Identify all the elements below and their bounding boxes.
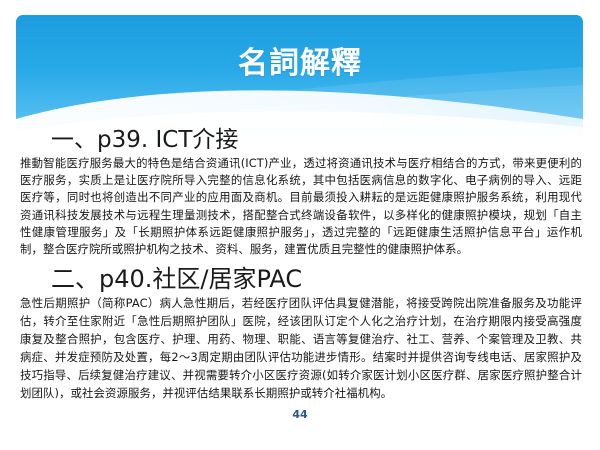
page-title: 名詞解釋 [0,47,600,80]
section-body-ict: 推動智能医疗服务最大的特色是结合资通讯(ICT)产业，透过将资通讯技术与医疗相结… [20,155,582,259]
section-pac: 二、p40.社区/居家PAC 急性后期照护（简称PAC）病人急性期后，若经医疗团… [20,266,582,402]
slide-content: 一、p39. ICT介接 推動智能医疗服务最大的特色是结合资通讯(ICT)产业，… [20,128,582,402]
section-ict: 一、p39. ICT介接 推動智能医疗服务最大的特色是结合资通讯(ICT)产业，… [20,128,582,259]
slide: 名詞解釋 一、p39. ICT介接 推動智能医疗服务最大的特色是结合资通讯(IC… [0,0,600,450]
page-number: 44 [0,408,600,421]
section-heading-ict: 一、p39. ICT介接 [20,128,582,154]
section-body-pac: 急性后期照护（简称PAC）病人急性期后，若经医疗团队评估具复健潜能，将接受跨院出… [20,294,582,402]
section-heading-pac: 二、p40.社区/居家PAC [20,266,582,293]
